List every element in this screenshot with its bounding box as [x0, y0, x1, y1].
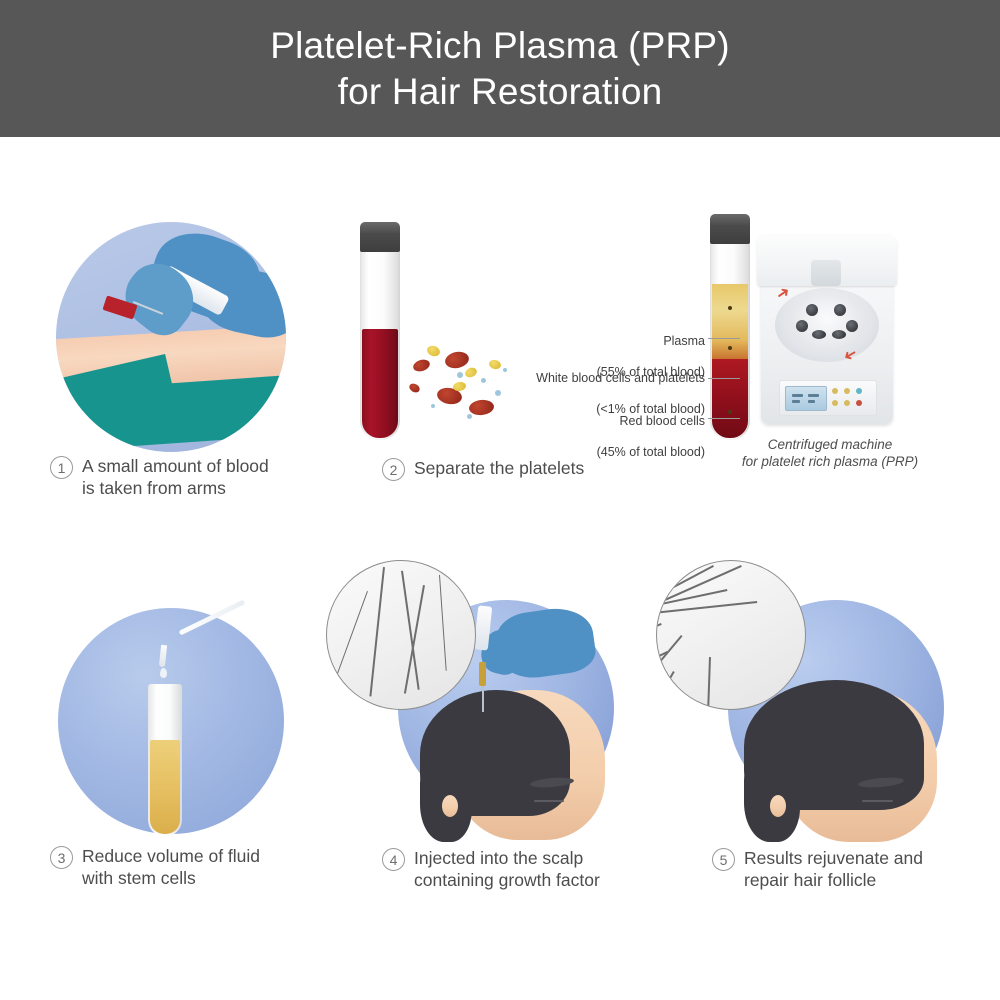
platelet: [426, 344, 442, 358]
red-blood-cell: [408, 382, 422, 394]
step-1-text: A small amount of blood is taken from ar…: [82, 455, 269, 499]
centrifuge-button[interactable]: [832, 388, 838, 394]
step-5-number: 5: [712, 848, 735, 871]
centrifuge-power-button[interactable]: [856, 400, 862, 406]
rotor-hole: [796, 320, 808, 332]
patient-eye-5: [862, 800, 893, 802]
rbc-leader-line: [708, 418, 740, 419]
step-4-number: 4: [382, 848, 405, 871]
step-1-caption: 1 A small amount of blood is taken from …: [50, 455, 320, 499]
blood-draw-circle: [56, 222, 286, 452]
centrifuge-display: [785, 386, 827, 411]
rotor-hole: [832, 330, 846, 339]
step-3-text: Reduce volume of fluid with stem cells: [82, 845, 260, 889]
page-title-line-1: Platelet-Rich Plasma (PRP): [270, 23, 730, 69]
hair-strand: [369, 567, 384, 696]
red-cell-layer: [712, 357, 748, 438]
infographic-page: Platelet-Rich Plasma (PRP) for Hair Rest…: [0, 0, 1000, 1000]
whole-blood-tube-body: [360, 246, 400, 440]
rotor-hole: [812, 330, 826, 339]
plasma-tube-body: [148, 684, 182, 836]
centrifuge-control-panel[interactable]: [779, 380, 877, 416]
rbc-label-name: Red blood cells: [620, 414, 705, 428]
step-4-caption: 4 Injected into the scalp containing gro…: [382, 847, 662, 891]
header-banner: Platelet-Rich Plasma (PRP) for Hair Rest…: [0, 0, 1000, 137]
syringe-needle-4: [482, 686, 484, 712]
centrifuge-machine: ➜ ➜: [757, 234, 897, 424]
hair-strand: [656, 635, 682, 710]
patient-ear-5: [770, 795, 786, 817]
step-5-caption: 5 Results rejuvenate and repair hair fol…: [712, 847, 992, 891]
syringe-plasma-fluid: [479, 662, 486, 686]
plasma-layer: [712, 284, 748, 359]
rbc-label: Red blood cells (45% of total blood): [440, 398, 705, 460]
rotor-hole: [846, 320, 858, 332]
plasma-tube-fill: [150, 740, 180, 834]
centrifuge-button[interactable]: [844, 388, 850, 394]
hair-strand: [656, 623, 662, 681]
buffy-coat-marker-dot: [728, 346, 732, 350]
patient-eye-4: [534, 800, 564, 802]
rotor-hole: [834, 304, 846, 316]
hair-strand: [439, 575, 447, 671]
plasma-collection-tube: [148, 684, 182, 836]
rotor-hole: [806, 304, 818, 316]
hair-strand: [658, 601, 758, 613]
step-3-number: 3: [50, 846, 73, 869]
patient-ear-4: [442, 795, 458, 817]
hair-strand: [656, 671, 674, 710]
magnified-dense-hair: [656, 560, 806, 710]
centrifuge-button[interactable]: [856, 388, 862, 394]
centrifuge-button[interactable]: [844, 400, 850, 406]
wbc-leader-line: [708, 378, 740, 379]
plasma-leader-line: [708, 338, 740, 339]
plasma-droplet-icon: [160, 668, 167, 678]
magnified-sparse-hair: [326, 560, 476, 710]
step-4-text: Injected into the scalp containing growt…: [414, 847, 600, 891]
separated-tube-cap: [710, 214, 750, 244]
plasma-label-name: Plasma: [663, 334, 705, 348]
hair-strand: [656, 589, 727, 617]
centrifuge-button[interactable]: [832, 400, 838, 406]
plasma-marker-dot: [728, 306, 732, 310]
step-2-number: 2: [382, 458, 405, 481]
red-blood-cell: [412, 358, 432, 374]
hair-strand: [336, 591, 369, 678]
step-1-number: 1: [50, 456, 73, 479]
step-2-caption: 2 Separate the platelets: [382, 457, 622, 481]
red-cell-marker-dot: [728, 410, 732, 414]
whole-blood-tube-cap: [360, 222, 400, 252]
whole-blood-fill: [362, 329, 398, 438]
centrifuge-lid-hinge: [811, 260, 841, 286]
hair-strand: [707, 657, 711, 710]
hair-strand: [656, 565, 714, 637]
white-blood-cell: [431, 404, 435, 408]
separated-tube-body: [710, 238, 750, 440]
centrifuge-rotor: [790, 298, 864, 350]
step-5-text: Results rejuvenate and repair hair folli…: [744, 847, 923, 891]
step-3-caption: 3 Reduce volume of fluid with stem cells: [50, 845, 330, 889]
step-2-text: Separate the platelets: [414, 457, 584, 479]
centrifuge-caption-line-1: Centrifuged machine: [735, 436, 925, 453]
whole-blood-tube: [360, 222, 400, 440]
centrifuge-caption-line-2: for platelet rich plasma (PRP): [735, 453, 925, 470]
page-title-line-2: for Hair Restoration: [338, 69, 663, 115]
separated-blood-tube: [710, 214, 750, 440]
centrifuge-caption: Centrifuged machine for platelet rich pl…: [735, 436, 925, 470]
wbc-label-name: White blood cells and platelets: [536, 371, 705, 385]
